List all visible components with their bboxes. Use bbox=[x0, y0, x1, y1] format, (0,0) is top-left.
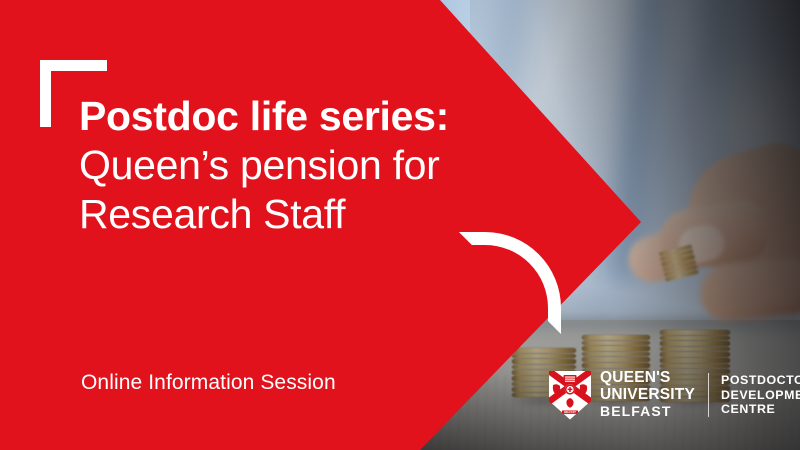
centre-wordmark-line-2: DEVELOPMENT bbox=[721, 388, 800, 403]
headline-line-2: Queen’s pension for bbox=[79, 141, 509, 190]
corner-bracket-vertical-bar bbox=[40, 60, 51, 127]
subtitle-text: Online Information Session bbox=[81, 371, 336, 395]
headline-line-1: Postdoc life series: bbox=[79, 92, 509, 141]
svg-text:BELFAST: BELFAST bbox=[564, 410, 576, 414]
centre-wordmark-line-3: CENTRE bbox=[721, 402, 800, 417]
headline-line-3: Research Staff bbox=[79, 190, 509, 239]
university-wordmark-line-2: UNIVERSITY bbox=[600, 387, 695, 404]
queens-university-crest-icon: BELFAST bbox=[549, 371, 591, 420]
centre-wordmark-line-1: POSTDOCTORAL bbox=[721, 373, 800, 388]
logo-divider bbox=[708, 373, 709, 417]
headline-block: Postdoc life series: Queen’s pension for… bbox=[79, 92, 509, 239]
university-wordmark-line-1: QUEEN'S bbox=[600, 370, 695, 387]
logo-lockup: BELFAST QUEEN'S UNIVERSITY BELFAST POSTD… bbox=[549, 369, 800, 421]
crest-heraldry: BELFAST bbox=[549, 371, 591, 420]
university-wordmark-line-3: BELFAST bbox=[600, 403, 695, 420]
centre-wordmark: POSTDOCTORAL DEVELOPMENT CENTRE bbox=[721, 373, 800, 417]
university-wordmark: QUEEN'S UNIVERSITY BELFAST bbox=[600, 370, 695, 420]
promotional-banner: Postdoc life series: Queen’s pension for… bbox=[0, 0, 800, 450]
